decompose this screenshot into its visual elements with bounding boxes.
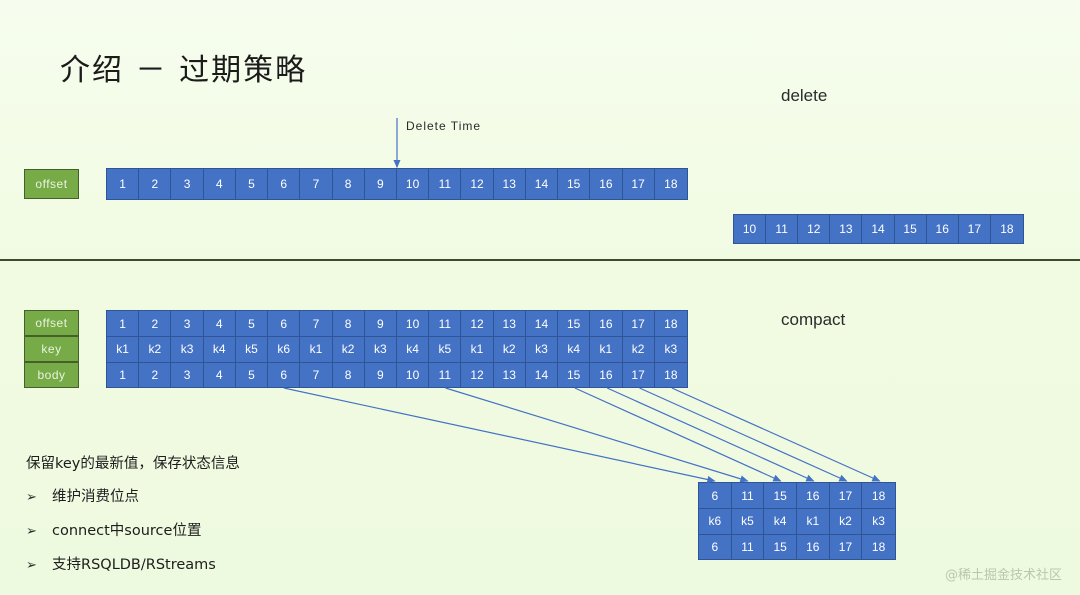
compact-source-cell: 15: [558, 362, 590, 387]
compact-result-cell: 6: [699, 483, 732, 508]
compact-source-cell: 6: [268, 362, 300, 387]
compact-section-heading: compact: [781, 310, 845, 330]
compact-result-cell: 17: [830, 534, 863, 559]
compact-source-cell: 9: [365, 362, 397, 387]
compact-source-row: 123456789101112131415161718: [107, 311, 687, 336]
section-divider: [0, 259, 1080, 261]
compact-source-cell: 5: [236, 362, 268, 387]
compact-source-cell: k3: [526, 336, 558, 361]
compact-result-cell: k5: [732, 508, 765, 533]
compact-source-cell: 3: [171, 311, 203, 336]
compact-result-cell: 17: [830, 483, 863, 508]
notes-bullet-3-label: 支持RSQLDB/RStreams: [52, 553, 216, 574]
compact-source-cell: 1: [107, 362, 139, 387]
compact-source-row: 123456789101112131415161718: [107, 362, 687, 387]
slide-canvas: 介绍 － 过期策略 delete Delete Time offset 1234…: [0, 0, 1080, 595]
legend-key-compact: key: [24, 336, 79, 362]
bullet-marker-icon: ➢: [26, 558, 52, 573]
compact-source-cell: 18: [655, 311, 687, 336]
compact-source-cell: k4: [397, 336, 429, 361]
notes-lead: 保留key的最新值，保存状态信息: [26, 452, 240, 473]
compact-result-cell: k3: [862, 508, 895, 533]
legend-key-compact-label: key: [41, 342, 61, 356]
compaction-mapping-arrow: [284, 388, 715, 481]
delete-source-cell: 6: [268, 169, 300, 199]
compact-source-cell: 11: [429, 362, 461, 387]
delete-time-annotation: Delete Time: [406, 119, 481, 133]
compact-notes: 保留key的最新值，保存状态信息 ➢ 维护消费位点 ➢ connect中sour…: [26, 452, 240, 587]
delete-source-row: 123456789101112131415161718: [106, 168, 688, 200]
compact-result-row: 61115161718: [699, 483, 895, 508]
delete-result-row: 101112131415161718: [733, 214, 1024, 244]
compaction-mapping-arrow: [575, 388, 781, 481]
compact-result-cell: k1: [797, 508, 830, 533]
delete-source-cell: 13: [494, 169, 526, 199]
compaction-mapping-arrow: [640, 388, 847, 481]
compact-source-cell: k3: [655, 336, 687, 361]
delete-source-cell: 1: [107, 169, 139, 199]
compact-source-cell: k1: [300, 336, 332, 361]
compact-result-table: 61115161718k6k5k4k1k2k361115161718: [698, 482, 896, 560]
compact-source-cell: k2: [623, 336, 655, 361]
compact-source-table: 123456789101112131415161718k1k2k3k4k5k6k…: [106, 310, 688, 388]
delete-source-cell: 14: [526, 169, 558, 199]
compact-source-cell: 6: [268, 311, 300, 336]
compact-source-cell: k5: [236, 336, 268, 361]
delete-source-cell: 18: [655, 169, 687, 199]
page-title: 介绍 － 过期策略: [60, 45, 307, 89]
compact-source-cell: 16: [590, 311, 622, 336]
delete-source-cell: 8: [333, 169, 365, 199]
bullet-marker-icon: ➢: [26, 490, 52, 505]
legend-body-compact: body: [24, 362, 79, 388]
compact-result-cell: 18: [862, 483, 895, 508]
compact-source-cell: 1: [107, 311, 139, 336]
compact-source-cell: k2: [494, 336, 526, 361]
compaction-mapping-arrow: [607, 388, 813, 481]
compact-source-cell: 17: [623, 362, 655, 387]
delete-result-cell: 13: [830, 215, 862, 243]
compact-result-row: 61115161718: [699, 534, 895, 559]
notes-bullet-1-label: 维护消费位点: [52, 485, 139, 506]
delete-source-cell: 11: [429, 169, 461, 199]
compact-source-cell: 14: [526, 362, 558, 387]
compact-result-cell: 15: [764, 534, 797, 559]
compact-source-cell: k1: [461, 336, 493, 361]
compact-source-cell: k5: [429, 336, 461, 361]
delete-result-cell: 17: [959, 215, 991, 243]
legend-body-compact-label: body: [37, 368, 65, 382]
compact-source-cell: k4: [558, 336, 590, 361]
delete-source-cell: 10: [397, 169, 429, 199]
delete-source-cell: 3: [171, 169, 203, 199]
compact-source-cell: 7: [300, 311, 332, 336]
delete-result-cell: 18: [991, 215, 1023, 243]
delete-source-cell: 15: [558, 169, 590, 199]
delete-result-cell: 11: [766, 215, 798, 243]
delete-source-cell: 12: [461, 169, 493, 199]
compact-result-cell: k6: [699, 508, 732, 533]
legend-offset-compact: offset: [24, 310, 79, 336]
compact-source-cell: 7: [300, 362, 332, 387]
compact-source-cell: k4: [204, 336, 236, 361]
compaction-mapping-arrow: [446, 388, 748, 481]
bullet-marker-icon: ➢: [26, 524, 52, 539]
compact-source-cell: 2: [139, 362, 171, 387]
compact-source-cell: k1: [107, 336, 139, 361]
compact-result-cell: k4: [764, 508, 797, 533]
delete-source-cell: 17: [623, 169, 655, 199]
notes-bullet-2: ➢ connect中source位置: [26, 519, 240, 540]
compact-source-cell: k3: [365, 336, 397, 361]
compact-result-cell: 16: [797, 483, 830, 508]
compact-result-cell: 11: [732, 534, 765, 559]
legend-offset-delete-label: offset: [35, 177, 67, 191]
legend-offset-delete: offset: [24, 169, 79, 199]
compact-source-cell: k2: [333, 336, 365, 361]
compact-source-cell: 9: [365, 311, 397, 336]
compact-source-cell: k1: [590, 336, 622, 361]
compact-source-cell: k2: [139, 336, 171, 361]
delete-source-cell: 7: [300, 169, 332, 199]
delete-section-heading: delete: [781, 86, 827, 106]
delete-result-cell: 12: [798, 215, 830, 243]
compact-source-cell: 2: [139, 311, 171, 336]
compact-source-cell: 12: [461, 311, 493, 336]
notes-bullet-1: ➢ 维护消费位点: [26, 485, 240, 506]
delete-result-cell: 15: [895, 215, 927, 243]
watermark: @稀土掘金技术社区: [945, 564, 1062, 583]
compact-result-cell: 6: [699, 534, 732, 559]
compact-source-cell: 13: [494, 311, 526, 336]
notes-bullet-3: ➢ 支持RSQLDB/RStreams: [26, 553, 240, 574]
delete-result-cell: 10: [734, 215, 766, 243]
compact-source-cell: 15: [558, 311, 590, 336]
delete-result-cell: 14: [862, 215, 894, 243]
compaction-mapping-arrow: [672, 388, 880, 481]
compact-source-cell: 8: [333, 311, 365, 336]
notes-bullet-2-label: connect中source位置: [52, 519, 201, 540]
legend-offset-compact-label: offset: [35, 316, 67, 330]
delete-result-cell: 16: [927, 215, 959, 243]
delete-source-cell: 9: [365, 169, 397, 199]
compact-source-cell: 4: [204, 362, 236, 387]
compact-source-cell: k6: [268, 336, 300, 361]
compact-source-cell: 8: [333, 362, 365, 387]
compact-source-row: k1k2k3k4k5k6k1k2k3k4k5k1k2k3k4k1k2k3: [107, 336, 687, 361]
delete-source-cell: 5: [236, 169, 268, 199]
compact-result-cell: 11: [732, 483, 765, 508]
compact-source-cell: 12: [461, 362, 493, 387]
compact-source-cell: 5: [236, 311, 268, 336]
delete-source-cell: 2: [139, 169, 171, 199]
delete-source-cell: 4: [204, 169, 236, 199]
compact-source-cell: 3: [171, 362, 203, 387]
compact-result-cell: 15: [764, 483, 797, 508]
compact-result-cell: k2: [830, 508, 863, 533]
delete-source-cell: 16: [590, 169, 622, 199]
compact-source-cell: 14: [526, 311, 558, 336]
compact-source-cell: 18: [655, 362, 687, 387]
compact-source-cell: 11: [429, 311, 461, 336]
compact-source-cell: 13: [494, 362, 526, 387]
compact-result-cell: 16: [797, 534, 830, 559]
compact-source-cell: 10: [397, 362, 429, 387]
compact-result-row: k6k5k4k1k2k3: [699, 508, 895, 533]
compact-source-cell: 17: [623, 311, 655, 336]
compact-result-cell: 18: [862, 534, 895, 559]
compact-source-cell: 4: [204, 311, 236, 336]
compact-source-cell: k3: [171, 336, 203, 361]
compact-source-cell: 16: [590, 362, 622, 387]
compact-source-cell: 10: [397, 311, 429, 336]
